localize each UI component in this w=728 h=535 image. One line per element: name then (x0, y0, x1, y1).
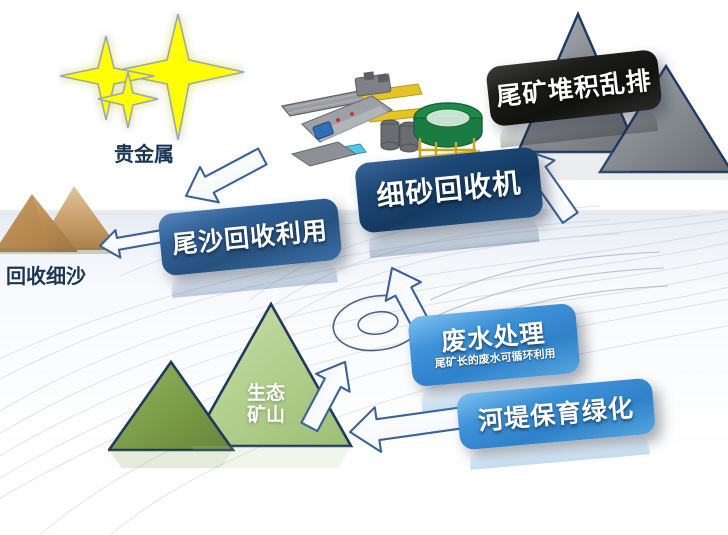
node-waste-pile-label: 尾矿堆积乱排 (495, 67, 653, 109)
node-sand-recovery-machine-label: 细砂回收机 (375, 169, 522, 211)
arrow-to-recovered-sand (98, 222, 164, 260)
arrow-ring-to-eco (293, 353, 361, 436)
node-wastewater-treatment[interactable]: 废水处理 尾矿长的废水可循环利用 (407, 303, 580, 387)
node-tailings-reuse-label: 尾沙回收利用 (171, 217, 329, 257)
node-embankment-greening-label: 河堤保育绿化 (477, 395, 635, 434)
arrow-to-precious-metal (177, 139, 272, 215)
arrow-greening-to-eco (347, 395, 470, 456)
diagram-canvas: 生态矿山 贵金属 回收细沙 (0, 0, 728, 535)
